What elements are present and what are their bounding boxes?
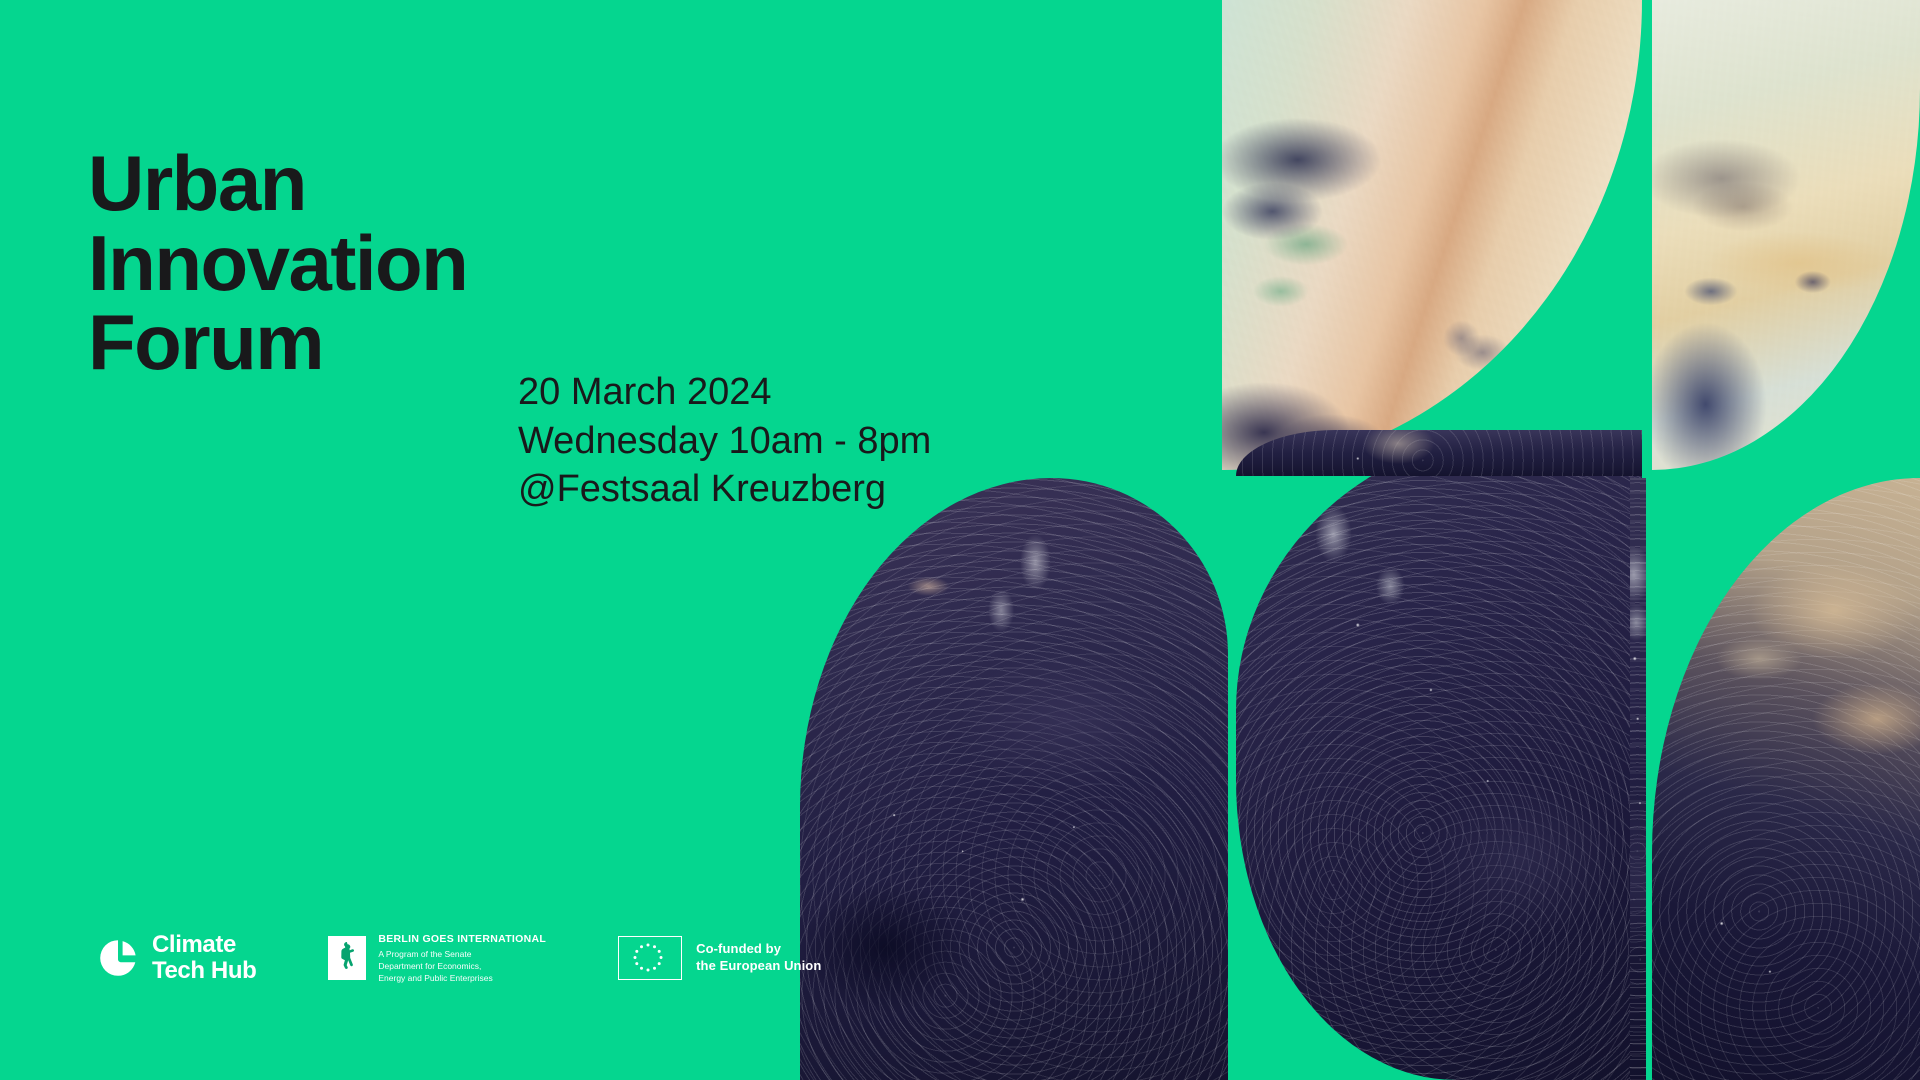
logo-berlin-subtitle: A Program of the Senate Department for E… <box>378 948 546 984</box>
event-time: Wednesday 10am - 8pm <box>518 417 931 466</box>
desert-satellite-image <box>1222 0 1642 470</box>
desert-satellite-image <box>1652 0 1920 470</box>
event-date: 20 March 2024 <box>518 368 931 417</box>
event-poster: Urban Innovation Forum 20 March 2024 Wed… <box>0 0 1920 1080</box>
night-lights-satellite-image <box>1236 430 1642 476</box>
logo-berlin-title: BERLIN GOES INTERNATIONAL <box>378 933 546 945</box>
logo-european-union: Co-funded by the European Union <box>618 936 821 980</box>
night-lights-satellite-image <box>1236 430 1642 1080</box>
night-lights-satellite-image <box>1630 478 1646 1080</box>
logo-climate-tech-hub-label: Climate Tech Hub <box>152 932 256 984</box>
logo-berlin-text: BERLIN GOES INTERNATIONAL A Program of t… <box>378 933 546 984</box>
tile-bottom-center <box>1236 430 1642 1080</box>
event-details: 20 March 2024 Wednesday 10am - 8pm @Fest… <box>518 368 931 514</box>
tile-bottom-center-top-sliver <box>1236 430 1642 476</box>
tile-top-right <box>1652 0 1920 470</box>
tile-top-left <box>1222 0 1642 470</box>
pie-mark-icon <box>98 937 140 979</box>
coastal-night-satellite-image <box>1652 478 1920 1080</box>
page-title: Urban Innovation Forum <box>88 144 467 383</box>
logo-climate-tech-hub: Climate Tech Hub <box>98 932 256 984</box>
berlin-bear-icon <box>328 936 366 980</box>
eu-flag-icon <box>618 936 682 980</box>
logo-berlin-goes-international: BERLIN GOES INTERNATIONAL A Program of t… <box>328 933 546 984</box>
logo-european-union-label: Co-funded by the European Union <box>696 941 821 974</box>
night-lights-satellite-image <box>800 478 1228 1080</box>
partner-logos: Climate Tech Hub BERLIN GOES INTERNATION… <box>98 932 821 984</box>
event-venue: @Festsaal Kreuzberg <box>518 465 931 514</box>
tile-bottom-left <box>800 478 1228 1080</box>
tile-bottom-right <box>1652 478 1920 1080</box>
tile-bottom-right-edge-strip <box>1630 478 1646 1080</box>
